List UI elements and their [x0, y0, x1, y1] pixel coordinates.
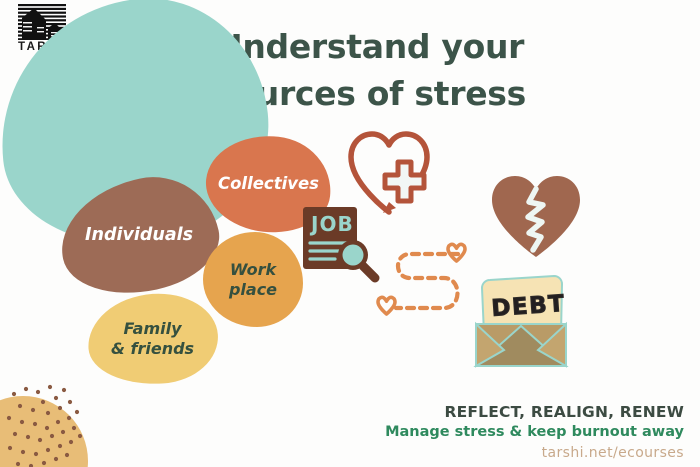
blob-workplace-label-line1: Work	[230, 260, 276, 279]
blob-workplace-label-line2: place	[229, 280, 277, 299]
footer-url[interactable]: tarshi.net/ecourses	[385, 445, 684, 461]
blob-family-label-line1: Family	[124, 319, 182, 338]
debt-envelope-icon: DEBT	[466, 272, 576, 370]
footer-tagline: REFLECT, REALIGN, RENEW	[385, 403, 684, 421]
poster-canvas: TARSHI Understand your sources of stress…	[0, 0, 700, 467]
job-document-label: JOB	[309, 212, 354, 236]
debt-letter-label: DEBT	[491, 291, 567, 322]
blob-family-label: Family & friends	[111, 319, 194, 359]
blob-workplace-label: Work place	[229, 260, 277, 300]
blob-workplace[interactable]: Work place	[203, 232, 303, 327]
blob-family-label-line2: & friends	[111, 339, 194, 358]
job-document-magnifier-icon: JOB	[301, 205, 383, 283]
footer: REFLECT, REALIGN, RENEW Manage stress & …	[385, 403, 684, 461]
blob-family-and-friends[interactable]: Family & friends	[85, 290, 221, 389]
broken-heart-icon	[487, 172, 585, 260]
blob-collectives-label: Collectives	[218, 174, 319, 195]
footer-subtitle: Manage stress & keep burnout away	[385, 424, 684, 440]
blob-individuals-label: Individuals	[85, 225, 193, 247]
path-heart-bottom-icon	[378, 297, 395, 314]
corner-dot-pattern-decoration	[0, 380, 120, 467]
